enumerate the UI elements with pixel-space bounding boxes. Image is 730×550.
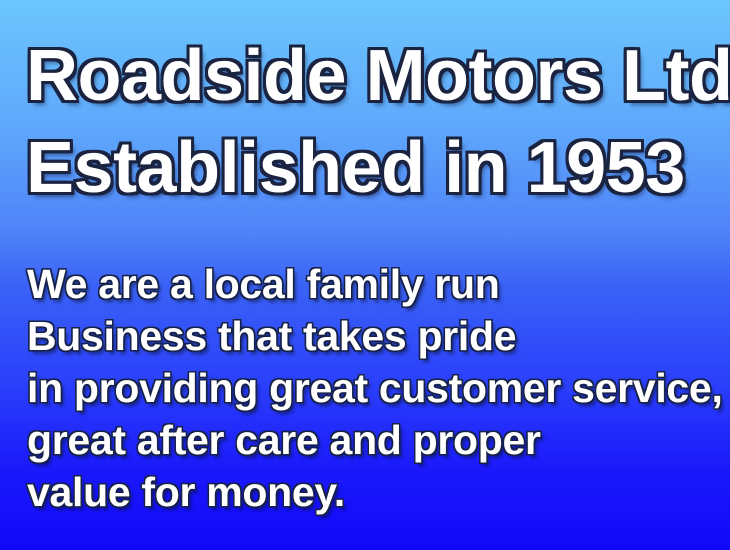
headline-block: Roadside Motors Ltd Established in 1953 [26,30,716,214]
body-line-5: value for money. [27,466,721,518]
body-copy-block: We are a local family run Business that … [27,258,721,518]
headline-line-business-name: Roadside Motors Ltd [26,30,716,122]
body-line-2: Business that takes pride [27,310,721,362]
headline-line-established: Established in 1953 [26,122,716,214]
body-line-1: We are a local family run [27,258,721,310]
body-line-3: in providing great customer service, [27,362,721,414]
body-line-4: great after care and proper [27,414,721,466]
promotional-banner: Roadside Motors Ltd Established in 1953 … [0,0,730,550]
